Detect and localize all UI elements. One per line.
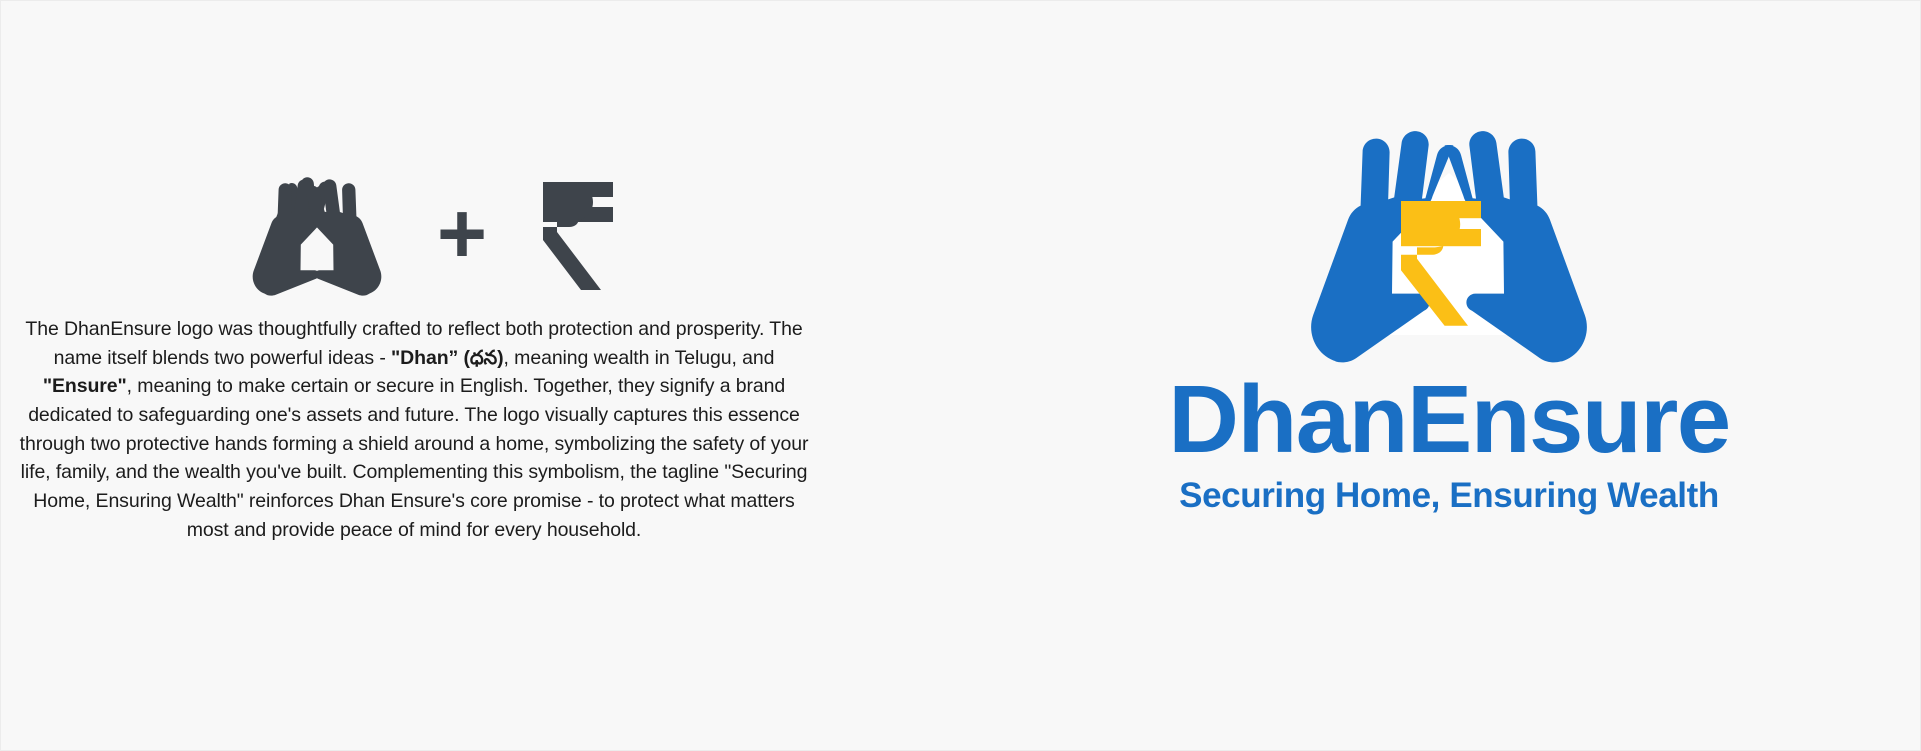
rupee-icon xyxy=(539,180,617,292)
logo-rationale-text: The DhanEnsure logo was thoughtfully cra… xyxy=(19,315,809,544)
rationale-column: + The DhanEnsure logo was thoughtfully c… xyxy=(19,171,829,564)
logo-wordmark: DhanEnsure xyxy=(1143,373,1755,467)
hands-house-icon xyxy=(249,175,385,297)
plus-icon: + xyxy=(437,191,487,277)
logo-tagline: Securing Home, Ensuring Wealth xyxy=(1149,475,1749,517)
rationale-part-2: , meaning wealth in Telugu, and xyxy=(504,347,775,369)
rationale-ensure-bold: "Ensure" xyxy=(43,375,127,397)
dhanensure-logo-lockup: DhanEnsure Securing Home, Ensuring Wealt… xyxy=(1149,129,1749,517)
rationale-dhan-bold: "Dhan” (ధన) xyxy=(391,347,504,369)
logo-rationale-canvas: + The DhanEnsure logo was thoughtfully c… xyxy=(0,0,1921,751)
dhanensure-logo-mark xyxy=(1149,129,1749,367)
logo-formula: + xyxy=(37,171,829,301)
rationale-part-3: , meaning to make certain or secure in E… xyxy=(20,375,809,540)
